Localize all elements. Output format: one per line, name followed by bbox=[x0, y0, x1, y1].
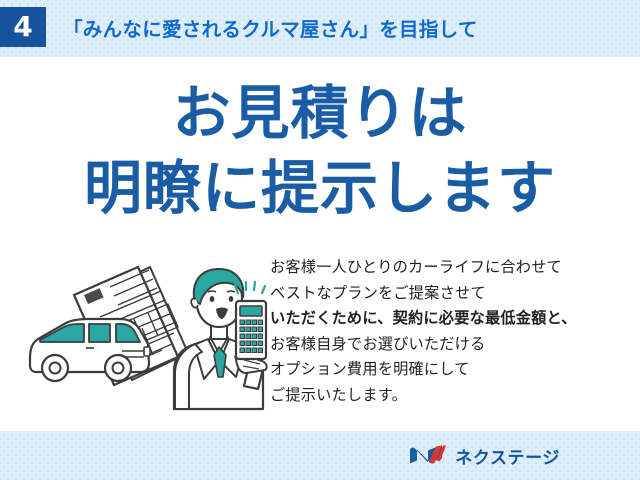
van-illustration bbox=[30, 319, 150, 381]
nextage-n-mark-icon bbox=[408, 445, 446, 467]
header-title: 「みんなに愛されるクルマ屋さん」を目指して bbox=[63, 13, 478, 42]
footer-bar: ネクステージ bbox=[0, 431, 640, 480]
step-number-badge: 4 bbox=[0, 7, 46, 47]
salesman-eye-left bbox=[210, 296, 215, 302]
main-content: お見積りは 明瞭に提示します お客様一人ひとりのカーライフに合わせて ベストなプ… bbox=[0, 57, 640, 431]
body-line: お客様自身でお選びいただける bbox=[270, 332, 640, 358]
salesman-eye-right bbox=[229, 296, 234, 302]
body-line: お客様一人ひとりのカーライフに合わせて bbox=[270, 255, 640, 281]
body-copy: お客様一人ひとりのカーライフに合わせて ベストなプランをご提案させて いただくた… bbox=[270, 255, 640, 408]
van-headlight bbox=[144, 347, 150, 356]
calculator-display bbox=[240, 306, 262, 316]
body-line: ベストなプランをご提案させて bbox=[270, 281, 640, 307]
brand-logo: ネクステージ bbox=[408, 443, 560, 468]
headline-line-2: 明瞭に提示します bbox=[0, 159, 640, 217]
headline-line-1: お見積りは bbox=[0, 84, 640, 142]
body-line: ご提示いたします。 bbox=[270, 383, 640, 409]
body-line: いただくために、契約に必要な最低金額と、 bbox=[270, 306, 640, 332]
body-line: オプション費用を明確にして bbox=[270, 357, 640, 383]
illustration-svg bbox=[22, 249, 272, 419]
van-window-mid bbox=[89, 324, 110, 342]
promo-slide: 4 「みんなに愛されるクルマ屋さん」を目指して お見積りは 明瞭に提示します お… bbox=[0, 0, 640, 480]
header-bar: 4 「みんなに愛されるクルマ屋さん」を目指して bbox=[0, 0, 640, 57]
illustration bbox=[22, 249, 272, 419]
calculator-illustration bbox=[236, 301, 266, 359]
brand-logo-wordmark: ネクステージ bbox=[455, 443, 560, 468]
header-inner: 4 「みんなに愛されるクルマ屋さん」を目指して bbox=[0, 7, 478, 47]
